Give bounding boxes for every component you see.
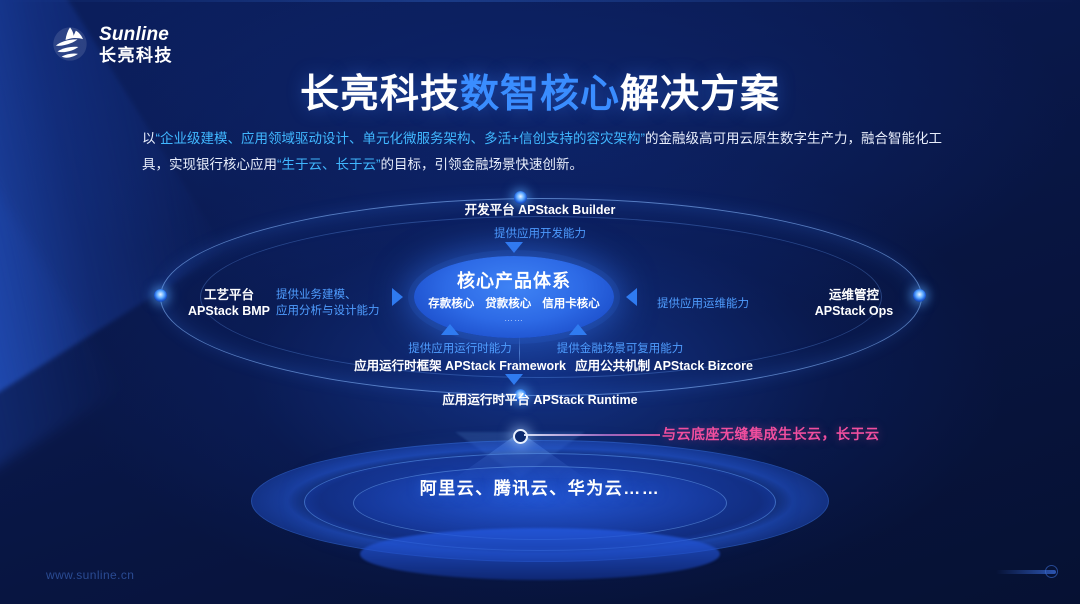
architecture-diagram: 开发平台 APStack Builder 提供应用开发能力 工艺平台 APSta… <box>0 186 1080 446</box>
ops-capability: 提供应用运维能力 <box>657 296 797 312</box>
arrow-down-top-icon <box>505 242 523 253</box>
subtitle-paragraph: 以“企业级建模、应用领域驱动设计、单元化微服务架构、多活+信创支持的容灾架构”的… <box>142 126 942 178</box>
arrow-down-runtime-icon <box>505 374 523 385</box>
footer-website-url: www.sunline.cn <box>46 568 134 582</box>
cloud-vendors-label: 阿里云、腾讯云、华为云…… <box>0 474 1080 499</box>
core-item-loan: 贷款核心 <box>485 295 531 311</box>
bizcore-label: 应用公共机制 APStack Bizcore <box>524 358 804 374</box>
core-title: 核心产品体系 <box>457 271 571 293</box>
arrow-right-into-core-icon <box>392 288 403 306</box>
builder-capability: 提供应用开发能力 <box>0 226 1080 242</box>
cloud-callout-text: 与云底座无缝集成生长云，长于云 <box>662 424 880 444</box>
sunline-globe-logo-icon <box>50 24 90 64</box>
orbit-node-left-icon <box>154 289 167 302</box>
builder-label: 开发平台 APStack Builder <box>0 202 1080 218</box>
slide-canvas: Sunline 长亮科技 长亮科技数智核心解决方案 以“企业级建模、应用领域驱动… <box>0 0 1080 604</box>
cloud-connection-node-icon <box>513 429 528 444</box>
page-title: 长亮科技数智核心解决方案 <box>0 63 1080 119</box>
bmp-label: 工艺平台 APStack BMP <box>186 287 272 319</box>
core-items: 存款核心 贷款核心 信用卡核心 <box>428 295 600 311</box>
arrow-left-into-core-icon <box>626 288 637 306</box>
bizcore-capability: 提供金融场景可复用能力 <box>520 341 720 357</box>
brand-logo: Sunline 长亮科技 <box>50 24 173 64</box>
arrow-up-bizcore-icon <box>569 324 587 335</box>
orbit-node-right-icon <box>913 289 926 302</box>
subtitle-seg1: 以 <box>142 131 156 146</box>
cloud-ring-bottom <box>360 528 720 580</box>
bmp-label-line2: APStack BMP <box>186 303 272 319</box>
header-divider <box>0 0 1080 2</box>
core-more-ellipsis: …… <box>504 313 524 323</box>
arrow-up-framework-icon <box>441 324 459 335</box>
subtitle-highlight-2: “生于云、长于云” <box>277 157 381 172</box>
bmp-capability: 提供业务建模、 应用分析与设计能力 <box>276 287 400 319</box>
logo-text-en: Sunline <box>99 25 173 44</box>
core-item-creditcard: 信用卡核心 <box>542 295 600 311</box>
ops-label: 运维管控 APStack Ops <box>806 287 902 319</box>
callout-connector-line <box>524 434 660 436</box>
page-title-accent: 数智核心 <box>460 73 620 116</box>
page-title-part2: 解决方案 <box>620 73 780 116</box>
bmp-capability-line1: 提供业务建模、 <box>276 287 400 303</box>
ops-label-line1: 运维管控 <box>806 287 902 303</box>
cloud-platform-base <box>0 436 1080 586</box>
subtitle-highlight-1: “企业级建模、应用领域驱动设计、单元化微服务架构、多活+信创支持的容灾架构” <box>156 131 645 146</box>
footer-decorative-dot-icon <box>1045 565 1058 578</box>
page-title-part1: 长亮科技 <box>300 73 460 116</box>
runtime-label: 应用运行时平台 APStack Runtime <box>0 392 1080 408</box>
ops-label-line2: APStack Ops <box>806 303 902 319</box>
bmp-label-line1: 工艺平台 <box>186 287 272 303</box>
logo-text-cn: 长亮科技 <box>99 47 173 64</box>
bmp-capability-line2: 应用分析与设计能力 <box>276 303 400 319</box>
core-item-deposit: 存款核心 <box>428 295 474 311</box>
subtitle-seg3: 的目标，引领金融场景快速创新。 <box>381 157 584 172</box>
